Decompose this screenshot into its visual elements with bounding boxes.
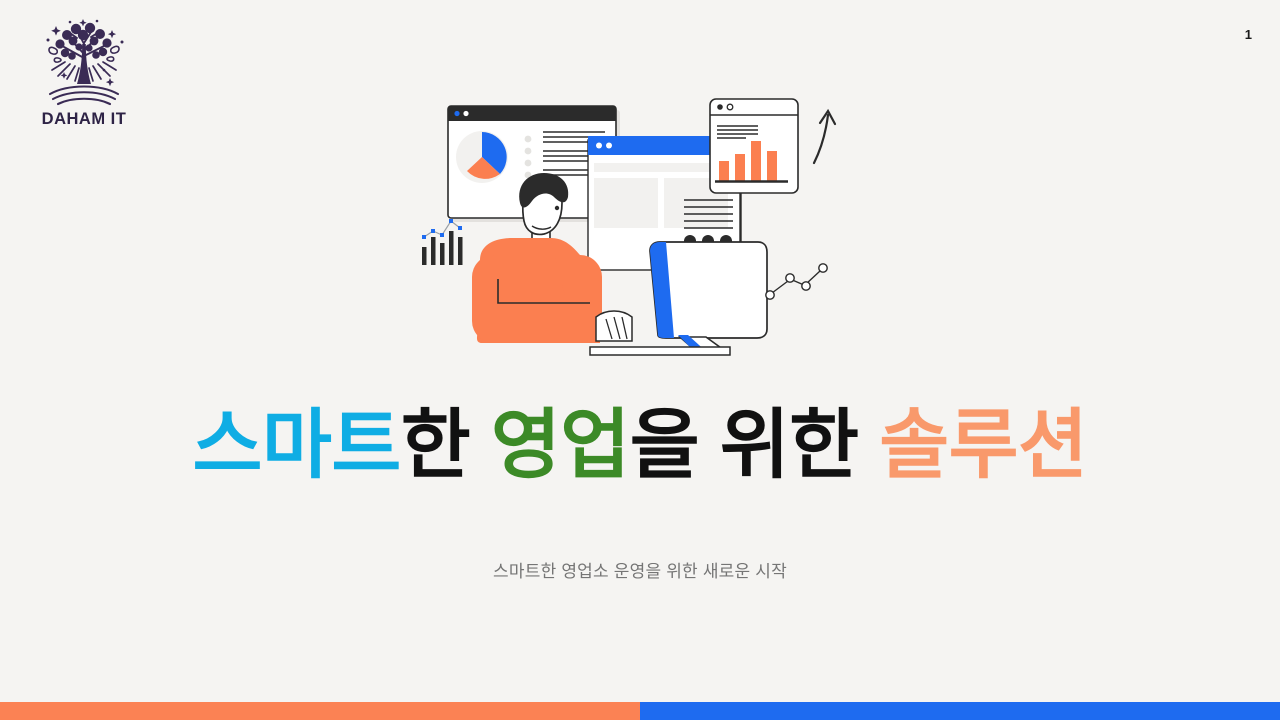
footer-accent-bar [0, 702, 1280, 720]
network-nodes-icon [766, 264, 827, 299]
growth-arrow-icon [814, 111, 835, 163]
page-number: 1 [1245, 28, 1252, 41]
daham-it-logo: DAHAM IT [24, 14, 144, 139]
presentation-slide: DAHAM IT 1 [0, 0, 1280, 720]
headline-segment-2: 한 [401, 403, 491, 488]
page-title: 스마트한 영업을 위한 솔루션 [0, 405, 1280, 487]
headline-segment-5: 솔루션 [879, 403, 1087, 488]
mini-bar-line-chart-icon [422, 219, 463, 265]
footer-bar-left-segment [0, 702, 640, 720]
headline-segment-3: 영업 [491, 403, 630, 488]
headline-segment-1: 스마트 [193, 403, 401, 488]
footer-bar-right-segment [640, 702, 1280, 720]
headline-segment-4: 을 위한 [630, 403, 880, 488]
bar-chart-window-icon [710, 99, 798, 193]
tree-icon [34, 14, 134, 109]
business-analytics-illustration [410, 85, 870, 375]
page-subtitle: 스마트한 영업소 운영을 위한 새로운 시작 [0, 557, 1280, 582]
logo-wordmark: DAHAM IT [42, 111, 127, 128]
